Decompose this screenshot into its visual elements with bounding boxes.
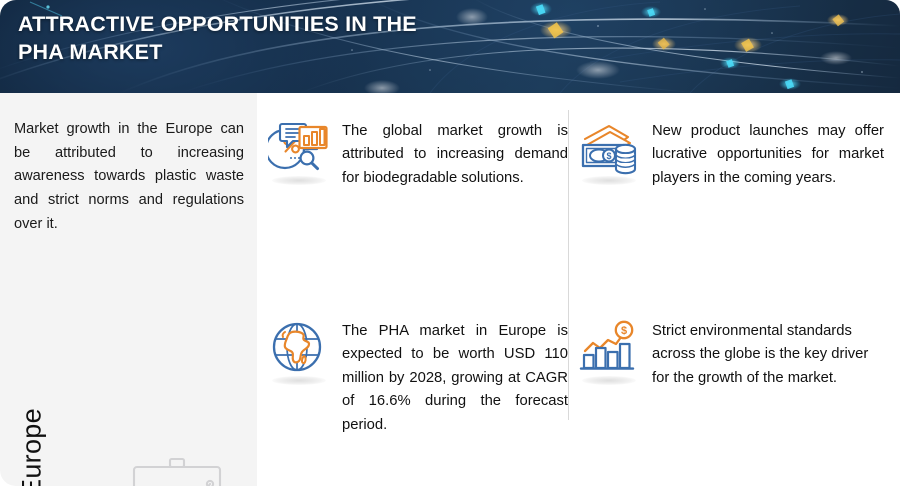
insight-text: The PHA market in Europe is expected to … [342, 318, 568, 437]
left-panel-description: Market growth in the Europe can be attri… [14, 118, 244, 236]
icon-shadow [582, 376, 636, 385]
infographic-root: ATTRACTIVE OPPORTUNITIES IN THE PHA MARK… [0, 0, 900, 486]
region-label-europe: Europe [17, 388, 48, 486]
icon-shadow [582, 176, 636, 185]
insight-text: Strict environmental standards across th… [652, 318, 884, 390]
pie-chart-percent-magnifier-bar-chart-icon [268, 118, 330, 186]
insight-text: The global market growth is attributed t… [342, 118, 568, 190]
insight-text: New product launches may offer lucrative… [652, 118, 884, 190]
page-title: ATTRACTIVE OPPORTUNITIES IN THE PHA MARK… [18, 10, 438, 67]
globe-africa-icon [268, 318, 330, 386]
header-banner: ATTRACTIVE OPPORTUNITIES IN THE PHA MARK… [0, 0, 900, 93]
svg-text:$: $ [621, 325, 627, 337]
svg-text:$: $ [606, 151, 611, 161]
icon-shadow [272, 376, 326, 385]
insight-cell-global-market-growth: The global market growth is attributed t… [268, 118, 568, 190]
column-divider [568, 110, 569, 420]
icon-shadow [272, 176, 326, 185]
banknote-coins-money-icon: $ [578, 118, 640, 186]
growth-bar-chart-dollar-coin-icon: $ [578, 318, 640, 386]
insight-cell-environmental-standards: $ Strict environmental standards across … [578, 318, 884, 390]
left-region-panel: Market growth in the Europe can be attri… [0, 93, 257, 486]
insight-cell-new-product-launches: $ New product launches may offer lucrati… [578, 118, 884, 190]
presentation-board-chart-magnifier-icon [125, 455, 237, 486]
insight-cell-pha-market-europe-forecast: The PHA market in Europe is expected to … [268, 318, 568, 437]
